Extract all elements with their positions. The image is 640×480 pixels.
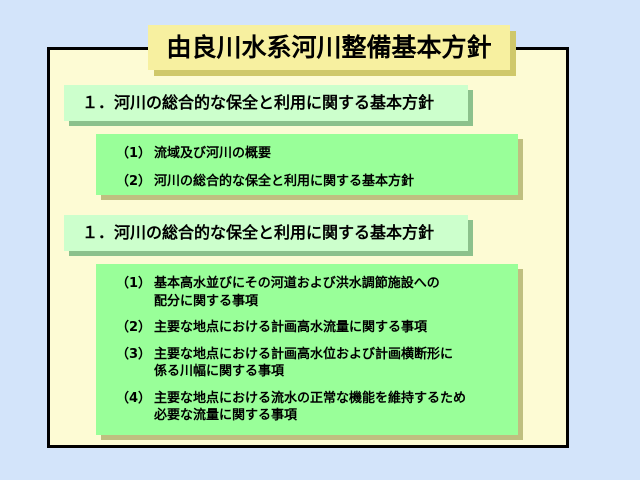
section-2-content-box: （1） 基本高水並びにその河道および洪水調節施設への 配分に関する事項 （2） … bbox=[96, 264, 518, 435]
list-item: （4） 主要な地点における流水の正常な機能を維持するため 必要な流量に関する事項 bbox=[116, 390, 504, 425]
list-item-label: 主要な地点における計画高水流量に関する事項 bbox=[154, 319, 427, 337]
list-item: （2） 主要な地点における計画高水流量に関する事項 bbox=[116, 319, 504, 337]
list-item-number: （3） bbox=[116, 346, 151, 364]
list-item: （1） 流域及び河川の概要 bbox=[116, 145, 504, 163]
list-item-number: （2） bbox=[116, 173, 151, 191]
list-item: （3） 主要な地点における計画高水位および計画横断形に 係る川幅に関する事項 bbox=[116, 346, 504, 381]
list-item-label: 流域及び河川の概要 bbox=[154, 145, 271, 163]
list-item: （1） 基本高水並びにその河道および洪水調節施設への 配分に関する事項 bbox=[116, 275, 504, 310]
list-item-number: （4） bbox=[116, 390, 151, 408]
list-item: （2） 河川の総合的な保全と利用に関する基本方針 bbox=[116, 173, 504, 191]
list-item-number: （1） bbox=[116, 275, 151, 293]
list-item-label: 主要な地点における計画高水位および計画横断形に 係る川幅に関する事項 bbox=[154, 346, 453, 381]
section-header-1: １．河川の総合的な保全と利用に関する基本方針 bbox=[64, 85, 468, 121]
page-title: 由良川水系河川整備基本方針 bbox=[166, 35, 491, 60]
list-item-label: 基本高水並びにその河道および洪水調節施設への 配分に関する事項 bbox=[154, 275, 440, 310]
section-header-2: １．河川の総合的な保全と利用に関する基本方針 bbox=[64, 215, 468, 251]
section-1-content-box: （1） 流域及び河川の概要 （2） 河川の総合的な保全と利用に関する基本方針 bbox=[96, 134, 518, 195]
slide-title-banner: 由良川水系河川整備基本方針 bbox=[148, 25, 510, 70]
list-item-label: 河川の総合的な保全と利用に関する基本方針 bbox=[154, 173, 414, 191]
list-item-number: （2） bbox=[116, 319, 151, 337]
list-item-number: （1） bbox=[116, 145, 151, 163]
section-header-2-label: １．河川の総合的な保全と利用に関する基本方針 bbox=[82, 225, 434, 241]
section-header-1-label: １．河川の総合的な保全と利用に関する基本方針 bbox=[82, 95, 434, 111]
list-item-label: 主要な地点における流水の正常な機能を維持するため 必要な流量に関する事項 bbox=[154, 390, 466, 425]
